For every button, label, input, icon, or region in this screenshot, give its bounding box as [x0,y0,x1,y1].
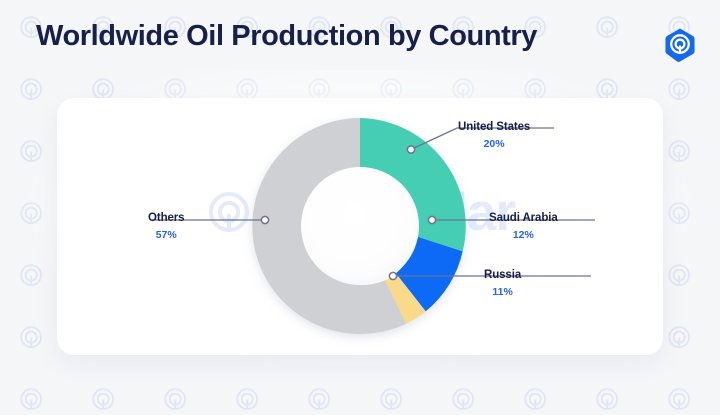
callout-united-states[interactable]: United States 20% [458,120,530,151]
callout-label-russia: Russia [484,268,521,282]
page-title: Worldwide Oil Production by Country [36,20,537,53]
callout-value-russia: 11% [484,285,521,299]
callout-others[interactable]: Others 57% [148,211,184,242]
leader-dot-others [261,216,268,223]
page-root: Worldwide Oil Production by Country [0,0,720,415]
callout-value-united-states: 20% [458,137,530,151]
callout-label-saudi-arabia: Saudi Arabia [489,211,558,225]
leader-dot-united-states [407,146,414,153]
dappradar-hexagon-logo-icon [661,26,699,64]
callout-value-others: 57% [148,228,184,242]
donut-hole [301,167,419,285]
leader-dot-russia [389,272,396,279]
header: Worldwide Oil Production by Country [0,0,720,90]
callout-russia[interactable]: Russia 11% [484,268,521,299]
callout-value-saudi-arabia: 12% [489,228,558,242]
callout-label-united-states: United States [458,120,530,134]
callout-saudi-arabia[interactable]: Saudi Arabia 12% [489,211,558,242]
callout-label-others: Others [148,211,184,225]
leader-dot-saudi-arabia [428,216,435,223]
